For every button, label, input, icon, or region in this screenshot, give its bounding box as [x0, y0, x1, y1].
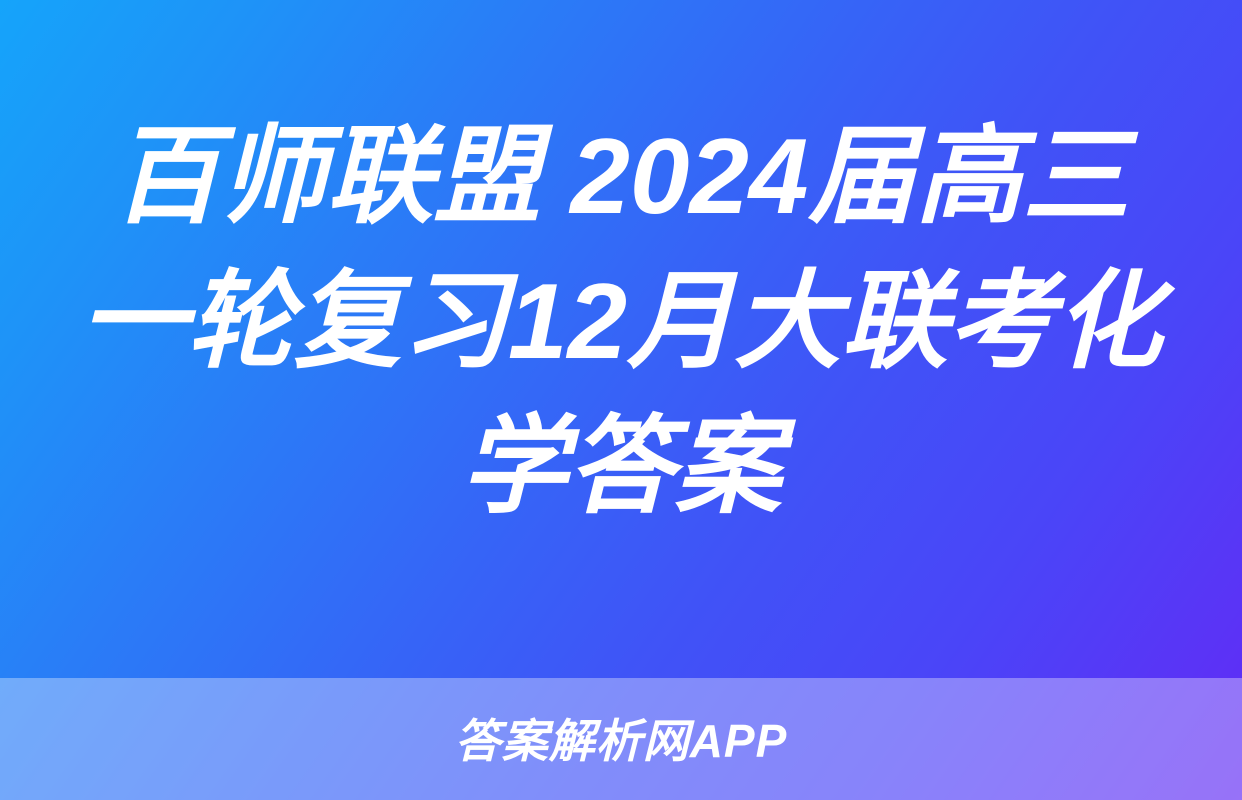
watermark-label: 答案解析网APP — [455, 716, 788, 766]
title-block: 百师联盟 2024届高三一轮复习12月大联考化学答案 — [0, 0, 1242, 678]
watermark-band: 答案解析网APP — [0, 678, 1242, 800]
poster-canvas: 百师联盟 2024届高三一轮复习12月大联考化学答案 答案解析网APP — [0, 0, 1242, 800]
page-title: 百师联盟 2024届高三一轮复习12月大联考化学答案 — [78, 104, 1164, 539]
